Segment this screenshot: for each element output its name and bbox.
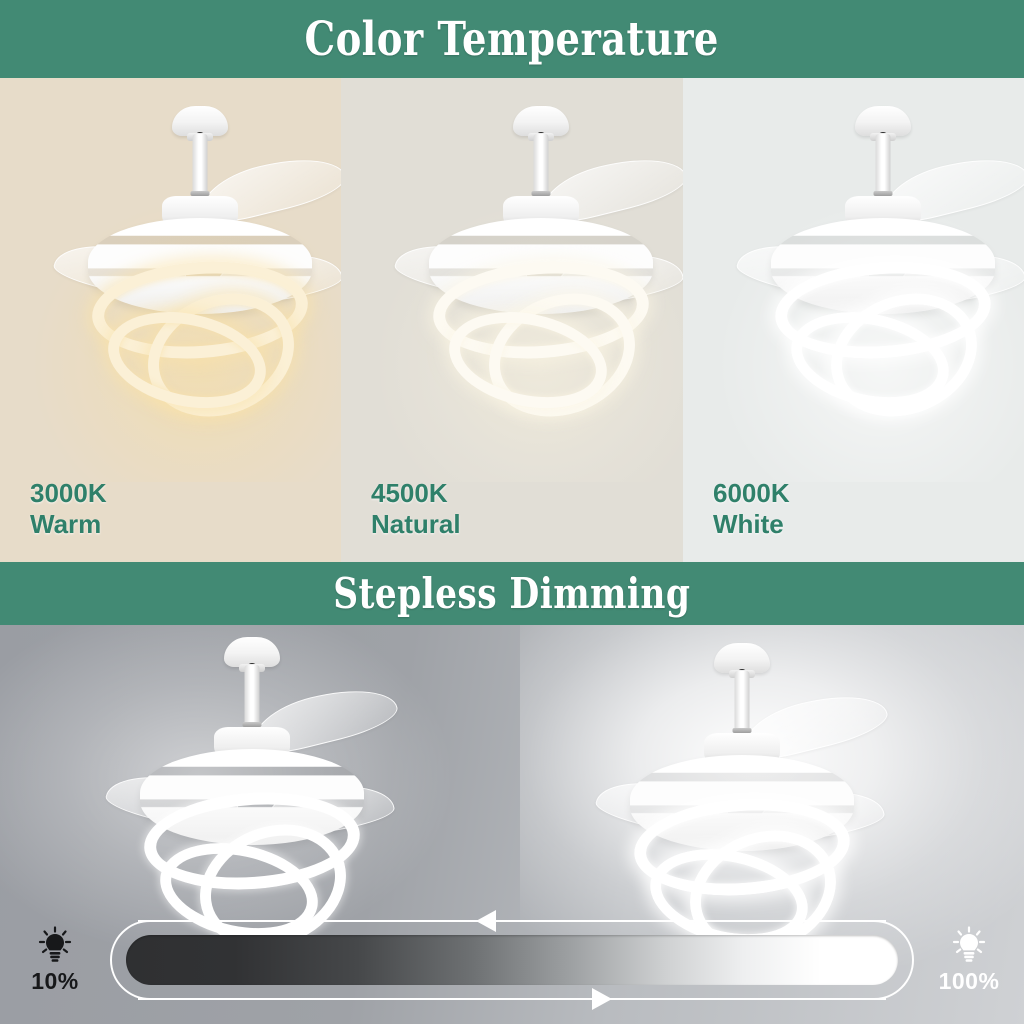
max-brightness-label: 100% [939,968,1000,995]
arrow-right-icon[interactable] [592,988,612,1010]
product-infographic: Color Temperature 3000K Warm [0,0,1024,1024]
color-temperature-panel-warm: 3000K Warm [0,78,341,562]
kelvin-value: 4500K [371,478,461,509]
ceiling-canopy [172,106,228,136]
downrod [735,671,750,737]
decrease-arrow-line-right [496,920,886,922]
stepless-dimming-banner: Stepless Dimming [0,562,1024,625]
increase-arrow-line-right [616,998,886,1000]
max-brightness-group: 100% [914,926,1024,995]
stepless-dimming-section: 10% [0,625,1024,1024]
color-temperature-panel-natural: 4500K Natural [341,78,683,562]
min-brightness-label: 10% [31,968,79,995]
tone-name: White [713,509,790,540]
ceiling-canopy [513,106,569,136]
color-temperature-title: Color Temperature [305,12,719,67]
lightbulb-bright-icon [952,926,986,964]
color-temperature-section: 3000K Warm 4500K Natural [0,78,1024,562]
stepless-dimming-title: Stepless Dimming [333,569,690,618]
downrod [245,665,260,731]
ceiling-fan-light-icon [771,106,995,446]
brightness-track[interactable] [126,935,898,985]
ceiling-fan-light-icon [88,106,312,446]
tone-name: Natural [371,509,461,540]
color-temperature-label-warm: 3000K Warm [30,478,107,540]
color-temperature-banner: Color Temperature [0,0,1024,78]
tone-name: Warm [30,509,107,540]
arrow-left-icon[interactable] [476,910,496,932]
downrod [193,134,208,200]
color-temperature-panel-white: 6000K White [683,78,1024,562]
downrod [534,134,549,200]
ceiling-canopy [224,637,280,667]
min-brightness-group: 10% [0,926,110,995]
ceiling-canopy [855,106,911,136]
ceiling-canopy [714,643,770,673]
kelvin-value: 6000K [713,478,790,509]
slider-frame[interactable] [110,920,914,1000]
color-temperature-label-white: 6000K White [713,478,790,540]
increase-arrow-line [138,998,592,1000]
downrod [876,134,891,200]
lightbulb-dim-icon [38,926,72,964]
brightness-slider[interactable]: 10% [0,912,1024,1008]
color-temperature-label-natural: 4500K Natural [371,478,461,540]
ceiling-fan-light-icon [429,106,653,446]
kelvin-value: 3000K [30,478,107,509]
decrease-arrow-line [138,920,496,922]
